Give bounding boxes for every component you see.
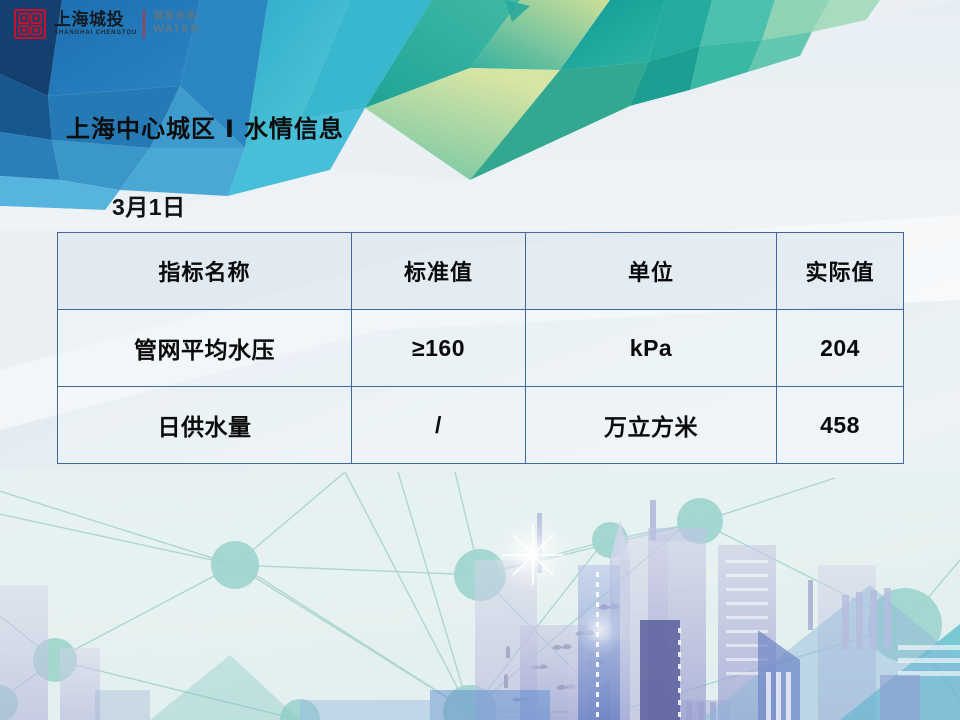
cell-indicator-name: 日供水量 (58, 387, 352, 464)
page-title-suffix: 水情信息 (244, 116, 344, 143)
slide-canvas: 上海城投 SHANGHAI CHENGTOU 城投水务 WATER 上海中心城区… (0, 0, 960, 720)
flying-birds-flock (504, 604, 620, 702)
brand-sub-en: WATER (153, 23, 200, 36)
cell-actual-value: 204 (777, 310, 904, 387)
cell-standard-value: ≥160 (352, 310, 526, 387)
column-header-indicator-name: 指标名称 (58, 233, 352, 310)
column-header-unit: 单位 (526, 233, 777, 310)
water-metrics-table: 指标名称 标准值 单位 实际值 管网平均水压 ≥160 kPa 204 日供水量… (57, 232, 904, 464)
cell-actual-value: 458 (777, 387, 904, 464)
column-header-actual-value: 实际值 (777, 233, 904, 310)
brand-name-en: SHANGHAI CHENGTOU (54, 30, 137, 37)
column-header-standard-value: 标准值 (352, 233, 526, 310)
table-row: 管网平均水压 ≥160 kPa 204 (58, 310, 904, 387)
report-date: 3月1日 (112, 188, 186, 222)
brand-name-block: 上海城投 SHANGHAI CHENGTOU (54, 11, 137, 37)
shanghai-chengtou-logo-icon (14, 9, 46, 39)
cell-standard-value: / (352, 387, 526, 464)
page-title: 上海中心城区Ⅰ水情信息 (66, 109, 344, 144)
cell-indicator-name: 管网平均水压 (58, 310, 352, 387)
page-title-prefix: 上海中心城区 (66, 116, 216, 143)
brand-sub-cn: 城投水务 (153, 11, 200, 23)
page-title-separator: Ⅰ (225, 115, 235, 144)
cell-unit: 万立方米 (526, 387, 777, 464)
cell-unit: kPa (526, 310, 777, 387)
brand-logo-bar: 上海城投 SHANGHAI CHENGTOU 城投水务 WATER (0, 0, 208, 48)
brand-divider (143, 10, 145, 38)
table-header-row: 指标名称 标准值 单位 实际值 (58, 233, 904, 310)
brand-sub-block: 城投水务 WATER (153, 11, 200, 36)
brand-name-cn: 上海城投 (54, 11, 137, 29)
table-row: 日供水量 / 万立方米 458 (58, 387, 904, 464)
